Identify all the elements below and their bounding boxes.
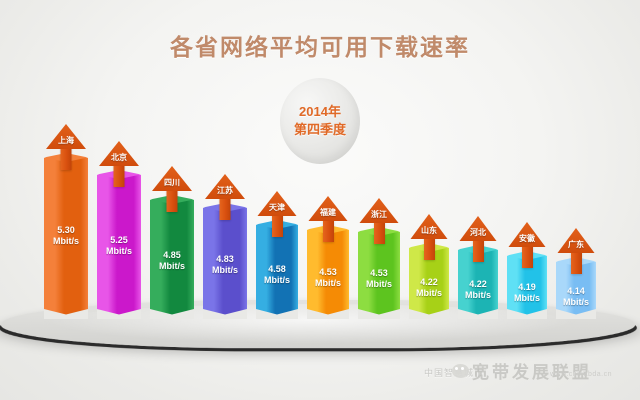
bar-face-right [275, 225, 298, 318]
bar-column: 上海5.30Mbit/s [44, 158, 88, 318]
bar-prism [256, 225, 298, 318]
bar-face-left [256, 225, 275, 318]
province-label: 福建 [309, 207, 348, 218]
bar-column: 广东4.14Mbit/s [556, 262, 596, 318]
bar-face-right [326, 230, 349, 318]
province-label: 浙江 [360, 209, 399, 220]
bar-bottom-notch [358, 309, 400, 319]
bar-column: 江苏4.83Mbit/s [203, 208, 247, 318]
growth-arrow: 广东 [558, 228, 595, 274]
wechat-icon [452, 364, 469, 378]
watermark: 中国智慧城市 宽带发展联盟 www.chinabda.cn [424, 358, 640, 386]
bar-column: 福建4.53Mbit/s [307, 230, 349, 318]
bar-prism [203, 208, 247, 318]
bar-face-left [358, 232, 377, 318]
bar-prism [44, 158, 88, 318]
bar-bottom-notch [409, 309, 449, 319]
page-title: 各省网络平均可用下载速率 [0, 28, 640, 62]
bar-column: 天津4.58Mbit/s [256, 225, 298, 318]
bar-column: 安徽4.19Mbit/s [507, 256, 547, 318]
bar-bottom-notch [97, 309, 141, 319]
bar-face-right [64, 158, 88, 318]
bar-prism [150, 200, 194, 318]
bar-column: 北京5.25Mbit/s [97, 175, 141, 318]
bar-column: 山东4.22Mbit/s [409, 248, 449, 318]
growth-arrow: 天津 [258, 191, 297, 237]
growth-arrow: 山东 [411, 214, 448, 260]
province-label: 安徽 [509, 233, 546, 244]
province-label: 江苏 [205, 185, 245, 196]
bar-face-left [307, 230, 326, 318]
bar-face-left [203, 208, 223, 318]
bar-prism [358, 232, 400, 318]
badge-year: 2014年 [299, 103, 341, 121]
growth-arrow: 河北 [460, 216, 497, 262]
bar-prism [307, 230, 349, 318]
bar-bottom-notch [307, 309, 349, 319]
bar-bottom-notch [256, 309, 298, 319]
bar-column: 四川4.85Mbit/s [150, 200, 194, 318]
bar-bottom-notch [458, 309, 498, 319]
province-label: 天津 [258, 202, 297, 213]
bar-bottom-notch [556, 309, 596, 319]
growth-arrow: 安徽 [509, 222, 546, 268]
bar-face-right [223, 208, 247, 318]
bar-face-right [117, 175, 141, 318]
infographic-canvas: 各省网络平均可用下载速率 2014年 第四季度 上海5.30Mbit/s北京5.… [0, 0, 640, 400]
province-label: 北京 [99, 152, 139, 163]
bar-bottom-notch [44, 309, 88, 319]
bar-column: 浙江4.53Mbit/s [358, 232, 400, 318]
province-label: 上海 [46, 135, 86, 146]
province-label: 河北 [460, 227, 497, 238]
bar-bottom-notch [507, 309, 547, 319]
bar-face-left [150, 200, 170, 318]
growth-arrow: 上海 [46, 124, 86, 170]
province-label: 四川 [152, 177, 192, 188]
province-label: 广东 [558, 239, 595, 250]
bar-face-right [377, 232, 400, 318]
growth-arrow: 北京 [99, 141, 139, 187]
bar-face-right [170, 200, 194, 318]
bar-face-left [97, 175, 117, 318]
badge-quarter: 第四季度 [294, 121, 346, 139]
bar-face-left [44, 158, 64, 318]
bar-bottom-notch [150, 309, 194, 319]
growth-arrow: 浙江 [360, 198, 399, 244]
bar-column: 河北4.22Mbit/s [458, 250, 498, 318]
growth-arrow: 江苏 [205, 174, 245, 220]
growth-arrow: 四川 [152, 166, 192, 212]
province-label: 山东 [411, 225, 448, 236]
growth-arrow: 福建 [309, 196, 348, 242]
quarter-badge: 2014年 第四季度 [280, 78, 360, 164]
bar-bottom-notch [203, 309, 247, 319]
bar-prism [97, 175, 141, 318]
watermark-url: www.chinabda.cn [550, 371, 612, 378]
